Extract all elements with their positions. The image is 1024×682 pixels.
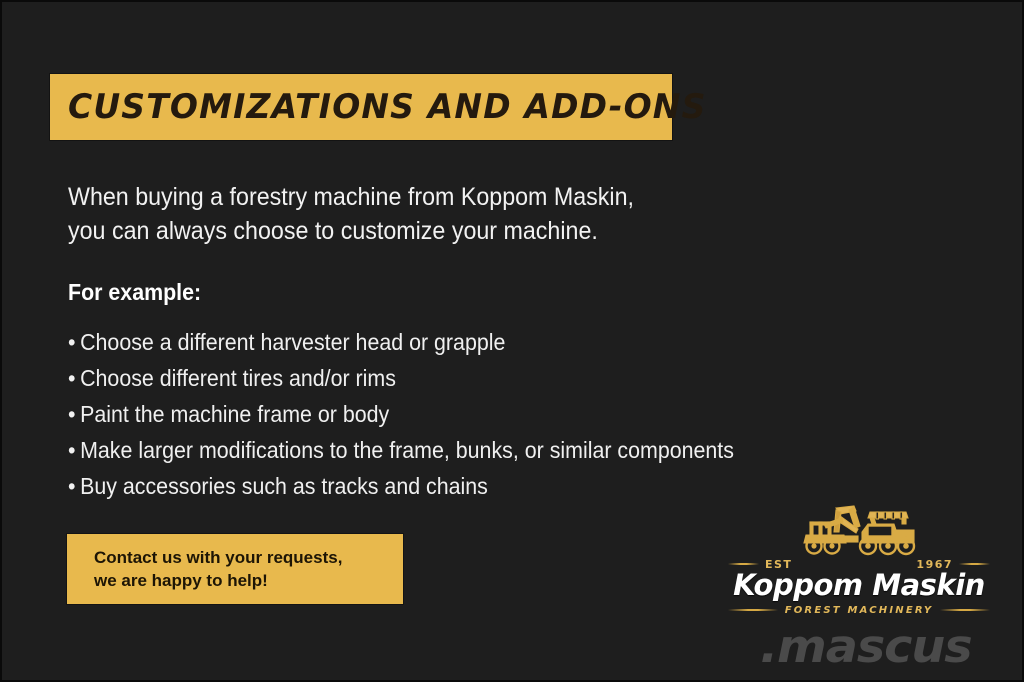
list-item: • Buy accessories such as tracks and cha… bbox=[68, 468, 775, 504]
logo-tagline-divider-left bbox=[728, 609, 778, 611]
contact-line-1: Contact us with your requests, bbox=[94, 546, 403, 569]
example-heading: For example: bbox=[68, 279, 201, 306]
page-title: CUSTOMIZATIONS AND ADD-ONS bbox=[68, 87, 707, 127]
logo-tagline-row: FOREST MACHINERY bbox=[728, 603, 990, 617]
bullet-dot-icon: • bbox=[68, 396, 80, 432]
list-item-label: Paint the machine frame or body bbox=[80, 396, 389, 432]
logo-divider-right bbox=[959, 563, 990, 565]
title-banner: CUSTOMIZATIONS AND ADD-ONS bbox=[50, 74, 672, 140]
list-item: • Choose a different harvester head or g… bbox=[68, 324, 775, 360]
bullet-dot-icon: • bbox=[68, 360, 80, 396]
forestry-forwarder-icon bbox=[784, 502, 934, 556]
customization-options-list: • Choose a different harvester head or g… bbox=[68, 324, 775, 504]
mascus-watermark: .mascus bbox=[760, 620, 972, 673]
logo-divider-left bbox=[728, 563, 759, 565]
bullet-dot-icon: • bbox=[68, 324, 80, 360]
list-item-label: Choose different tires and/or rims bbox=[80, 360, 396, 396]
intro-line-1: When buying a forestry machine from Kopp… bbox=[68, 180, 719, 214]
list-item-label: Make larger modifications to the frame, … bbox=[80, 432, 734, 468]
intro-paragraph: When buying a forestry machine from Kopp… bbox=[68, 180, 719, 248]
logo-tagline-divider-right bbox=[940, 609, 990, 611]
logo-brand-name: Koppom Maskin bbox=[728, 568, 990, 602]
bullet-dot-icon: • bbox=[68, 468, 80, 504]
list-item: • Choose different tires and/or rims bbox=[68, 360, 775, 396]
list-item: • Make larger modifications to the frame… bbox=[68, 432, 775, 468]
advertisement-slide: CUSTOMIZATIONS AND ADD-ONS When buying a… bbox=[0, 0, 1024, 682]
contact-callout-box[interactable]: Contact us with your requests, we are ha… bbox=[67, 534, 403, 604]
koppom-maskin-logo: EST 1967 Koppom Maskin FOREST MACHINERY bbox=[728, 502, 990, 610]
list-item-label: Buy accessories such as tracks and chain… bbox=[80, 468, 488, 504]
bullet-dot-icon: • bbox=[68, 432, 80, 468]
contact-line-2: we are happy to help! bbox=[94, 569, 403, 592]
list-item: • Paint the machine frame or body bbox=[68, 396, 775, 432]
logo-tagline: FOREST MACHINERY bbox=[778, 605, 941, 616]
intro-line-2: you can always choose to customize your … bbox=[68, 214, 719, 248]
list-item-label: Choose a different harvester head or gra… bbox=[80, 324, 505, 360]
